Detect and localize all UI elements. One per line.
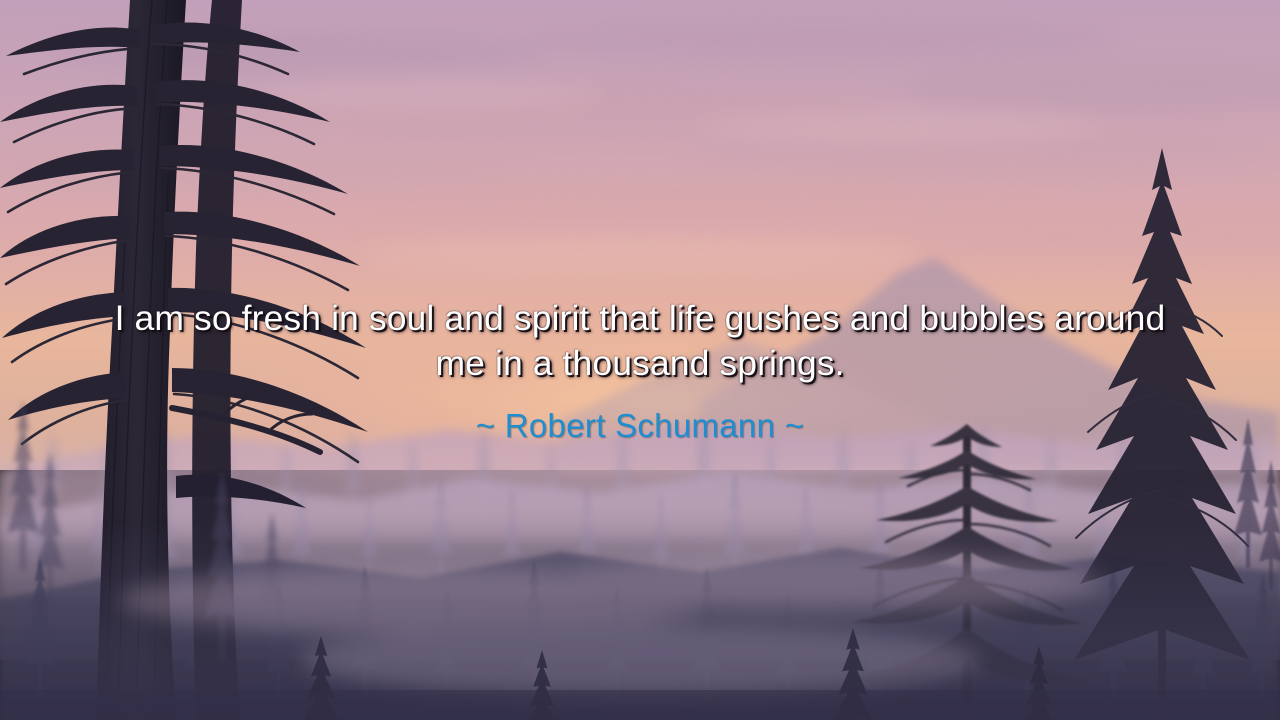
quote-block: I am so fresh in soul and spirit that li… xyxy=(0,296,1280,386)
quote-text: I am so fresh in soul and spirit that li… xyxy=(105,296,1175,386)
quote-wallpaper: I am so fresh in soul and spirit that li… xyxy=(0,0,1280,720)
attribution-block: ~ Robert Schumann ~ xyxy=(0,405,1280,447)
bottom-edge-shade xyxy=(0,690,1280,720)
attribution-text: ~ Robert Schumann ~ xyxy=(476,405,805,447)
